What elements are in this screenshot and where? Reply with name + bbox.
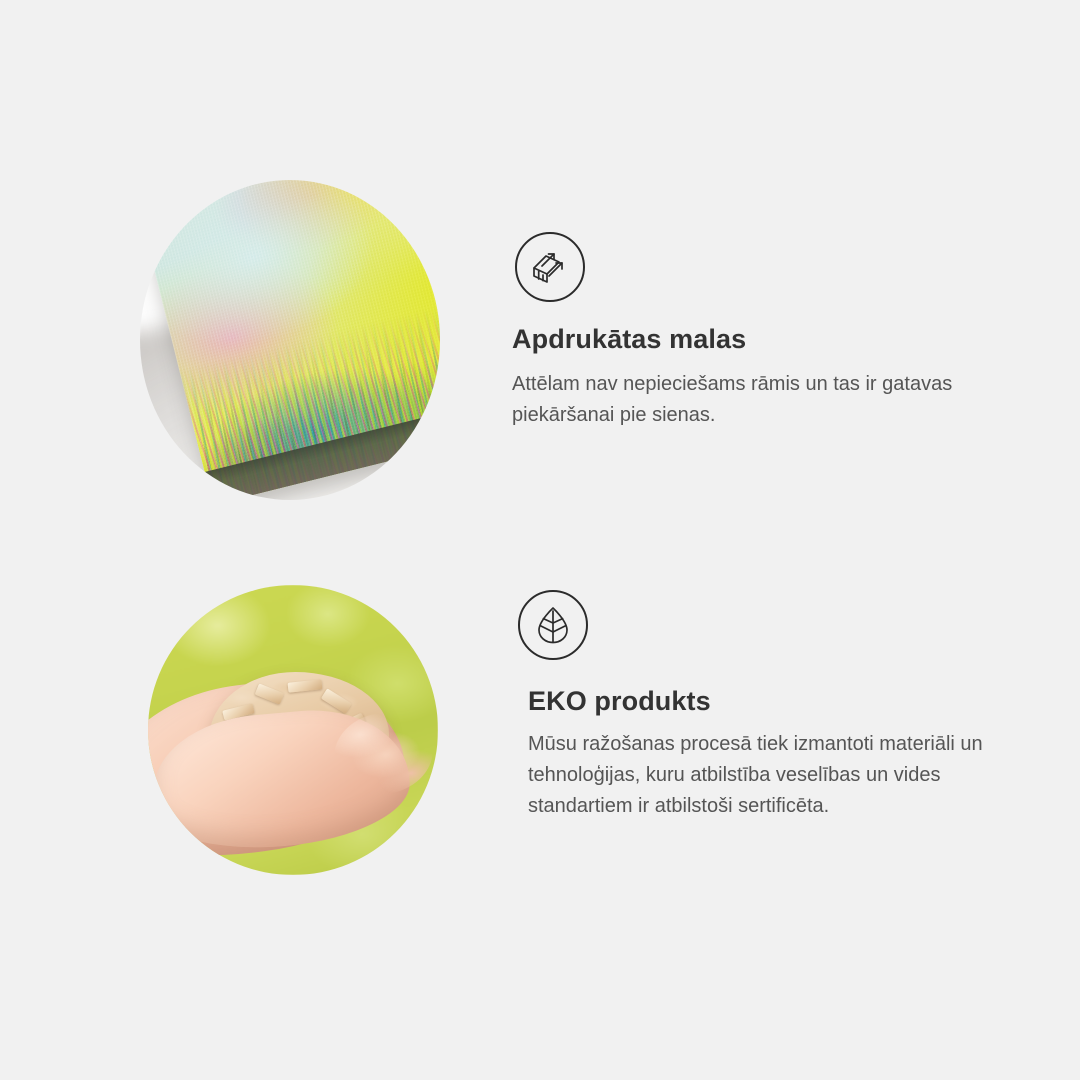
leaf-glyph bbox=[531, 603, 575, 647]
leaf-icon bbox=[518, 590, 588, 660]
printed-edges-glyph bbox=[529, 246, 571, 288]
printed-edges-icon bbox=[515, 232, 585, 302]
feature-title: Apdrukātas malas bbox=[512, 324, 746, 355]
canvas-corner-photo bbox=[140, 180, 440, 500]
feature-title: EKO produkts bbox=[528, 686, 711, 717]
feature-infographic: Apdrukātas malas Attēlam nav nepieciešam… bbox=[0, 0, 1080, 1080]
feature-description: Attēlam nav nepieciešams rāmis un tas ir… bbox=[512, 369, 1002, 431]
wood-chips-hands-photo bbox=[148, 585, 438, 875]
feature-description: Mūsu ražošanas procesā tiek izmantoti ma… bbox=[528, 729, 1018, 822]
